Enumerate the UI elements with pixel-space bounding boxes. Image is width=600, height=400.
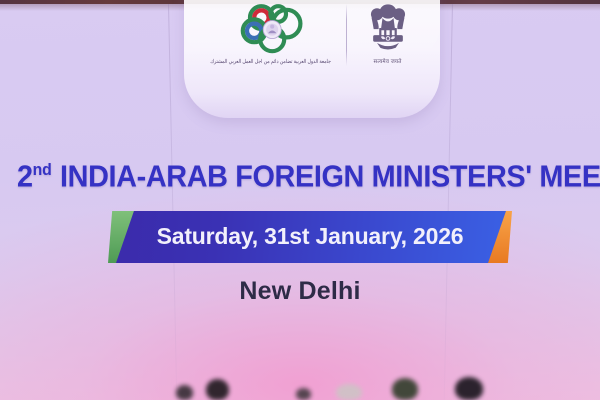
presentation-backdrop-screenshot: جامعة الدول العربية تضامن دائم من اجل ال… — [0, 0, 600, 400]
india-state-emblem-icon — [366, 0, 410, 56]
title-ordinal-suffix: nd — [33, 160, 52, 179]
audience-head — [392, 378, 418, 400]
arab-league-logo-block: جامعة الدول العربية تضامن دائم من اجل ال… — [196, 0, 346, 65]
title-main-text: INDIA-ARAB FOREIGN MINISTERS' MEETING — [60, 158, 600, 193]
event-date-text: Saturday, 31st January, 2026 — [108, 211, 512, 263]
arab-league-80-emblem-icon — [235, 2, 307, 56]
india-emblem-logo-block: सत्यमेव जयते — [347, 0, 429, 65]
event-city: New Delhi — [0, 277, 600, 306]
event-date-ribbon: Saturday, 31st January, 2026 — [108, 211, 512, 263]
audience-head — [296, 388, 311, 400]
audience-head — [336, 384, 362, 400]
audience-head — [206, 379, 229, 400]
logo-plaque: جامعة الدول العربية تضامن دائم من اجل ال… — [184, 0, 440, 118]
audience-head — [176, 385, 193, 400]
audience-head — [455, 377, 483, 400]
audience-silhouettes — [0, 354, 600, 400]
india-emblem-motto: सत्यमेव जयते — [373, 57, 401, 65]
arab-league-caption: جامعة الدول العربية تضامن دائم من اجل ال… — [210, 59, 331, 66]
logo-row: جامعة الدول العربية تضامن دائم من اجل ال… — [184, 0, 440, 90]
title-ordinal-number: 2 — [17, 158, 33, 193]
event-title: 2ndINDIA-ARAB FOREIGN MINISTERS' MEETING — [17, 152, 600, 194]
